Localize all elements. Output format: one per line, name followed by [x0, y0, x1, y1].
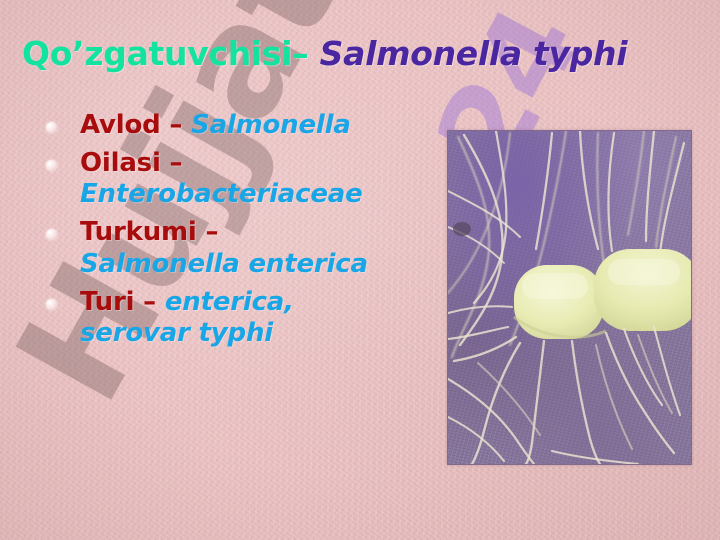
list-item-label: Turi –: [80, 287, 156, 317]
title-dash: –: [292, 34, 308, 73]
list-item-text: Turi – enterica, serovar typhi: [80, 287, 436, 350]
bullet-dot-icon: [46, 229, 57, 240]
title-scientific-name: Salmonella typhi: [320, 34, 628, 73]
presentation-slide: Hujjat 24 Qo’zgatuvchisi– Salmonella typ…: [0, 0, 720, 540]
list-item: Avlod – Salmonella: [36, 110, 436, 142]
micrograph-content: [448, 131, 691, 464]
list-item-label: Oilasi –: [80, 148, 182, 178]
list-item-scientific-cont: serovar typhi: [80, 318, 273, 348]
bullet-dot-icon: [46, 299, 57, 310]
list-item-text: Oilasi – Enterobacteriaceae: [80, 148, 436, 211]
bullet-dot-icon: [46, 122, 57, 133]
list-item-text: Avlod – Salmonella: [80, 110, 436, 142]
list-item: Oilasi – Enterobacteriaceae: [36, 148, 436, 211]
list-item-scientific: enterica,: [165, 287, 294, 317]
list-item-scientific: Salmonella: [191, 110, 351, 140]
bullet-dot-icon: [46, 160, 57, 171]
bullet-list: Avlod – Salmonella Oilasi – Enterobacter…: [36, 110, 436, 356]
micrograph-image: [447, 130, 692, 465]
list-item-text: Turkumi – Salmonella enterica: [80, 217, 436, 280]
list-item: Turi – enterica, serovar typhi: [36, 287, 436, 350]
list-item: Turkumi – Salmonella enterica: [36, 217, 436, 280]
list-item-scientific: Enterobacteriaceae: [80, 179, 363, 209]
list-item-scientific: Salmonella enterica: [80, 249, 368, 279]
list-item-label: Turkumi –: [80, 217, 218, 247]
slide-title: Qo’zgatuvchisi– Salmonella typhi: [22, 36, 702, 72]
title-uzbek-part: Qo’zgatuvchisi: [22, 34, 292, 73]
list-item-label: Avlod –: [80, 110, 182, 140]
